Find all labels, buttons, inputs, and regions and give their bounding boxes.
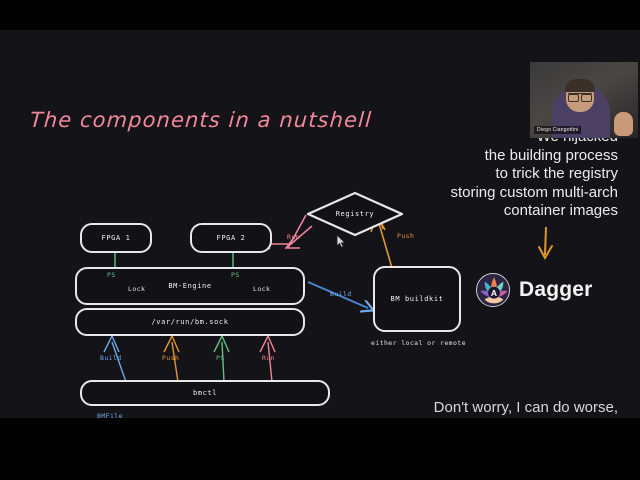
edge-label-push-bottom: Push xyxy=(162,354,179,362)
webcam-speaker-hair xyxy=(565,79,595,92)
bmfile-label: BMFile xyxy=(97,412,123,418)
edge-label-ps-right: PS xyxy=(231,271,240,279)
webcam-overlay[interactable]: Diego Ciangottini xyxy=(530,62,638,138)
callout-text: We hijacked the building process to tric… xyxy=(358,128,618,221)
edge-label-run-registry: Run xyxy=(287,233,300,241)
node-bmctl-label: bmctl xyxy=(193,389,217,397)
demo-line-1: Don't worry, I can do worse, xyxy=(338,398,618,418)
edge-label-ps-left: PS xyxy=(107,271,116,279)
demo-text: Don't worry, I can do worse, I have a de… xyxy=(338,398,618,418)
callout-line-2: the building process xyxy=(358,147,618,166)
mouse-cursor xyxy=(336,234,347,249)
edge-label-lock-right: Lock xyxy=(253,285,270,293)
webcam-speaker-hand xyxy=(614,112,633,136)
callout-line-4: storing custom multi-arch xyxy=(358,184,618,203)
node-bm-sock[interactable]: /var/run/bm.sock xyxy=(75,308,305,336)
presentation-slide: The components in a nutshell xyxy=(0,30,640,418)
webcam-speaker-name: Diego Ciangottini xyxy=(534,126,581,134)
edge-label-ps-bottom: PS xyxy=(216,354,225,362)
dagger-logo-letter: A xyxy=(491,288,497,298)
node-fpga-2[interactable]: FPGA 2 xyxy=(190,223,272,253)
callout-line-3: to trick the registry xyxy=(358,165,618,184)
dagger-wordmark: Dagger xyxy=(519,278,593,302)
webcam-speaker-glasses xyxy=(568,93,592,99)
edge-label-lock-left: Lock xyxy=(128,285,145,293)
node-fpga-2-label: FPGA 2 xyxy=(217,234,246,242)
callout-line-5: container images xyxy=(358,202,618,221)
edge-label-push-registry: Push xyxy=(397,232,414,240)
node-bm-buildkit[interactable]: BM buildkit xyxy=(373,266,461,332)
callout-down-arrow-icon xyxy=(534,225,558,267)
edge-label-build-right: Build xyxy=(330,290,352,298)
edge-label-run-bottom: Run xyxy=(262,354,275,362)
buildkit-caption: either local or remote xyxy=(371,339,466,347)
video-player-frame: The components in a nutshell xyxy=(0,0,640,480)
dagger-logo-icon: A xyxy=(476,273,510,307)
node-fpga-1-label: FPGA 1 xyxy=(102,234,131,242)
dagger-logo-svg: A xyxy=(477,274,510,307)
node-bm-sock-label: /var/run/bm.sock xyxy=(151,318,228,326)
edge-label-build-bottom: Build xyxy=(100,354,122,362)
node-bm-engine-label: BM-Engine xyxy=(168,282,211,290)
node-bmctl[interactable]: bmctl xyxy=(80,380,330,406)
node-fpga-1[interactable]: FPGA 1 xyxy=(80,223,152,253)
dagger-lockup: A Dagger xyxy=(476,273,593,307)
node-bm-buildkit-label: BM buildkit xyxy=(391,295,444,303)
